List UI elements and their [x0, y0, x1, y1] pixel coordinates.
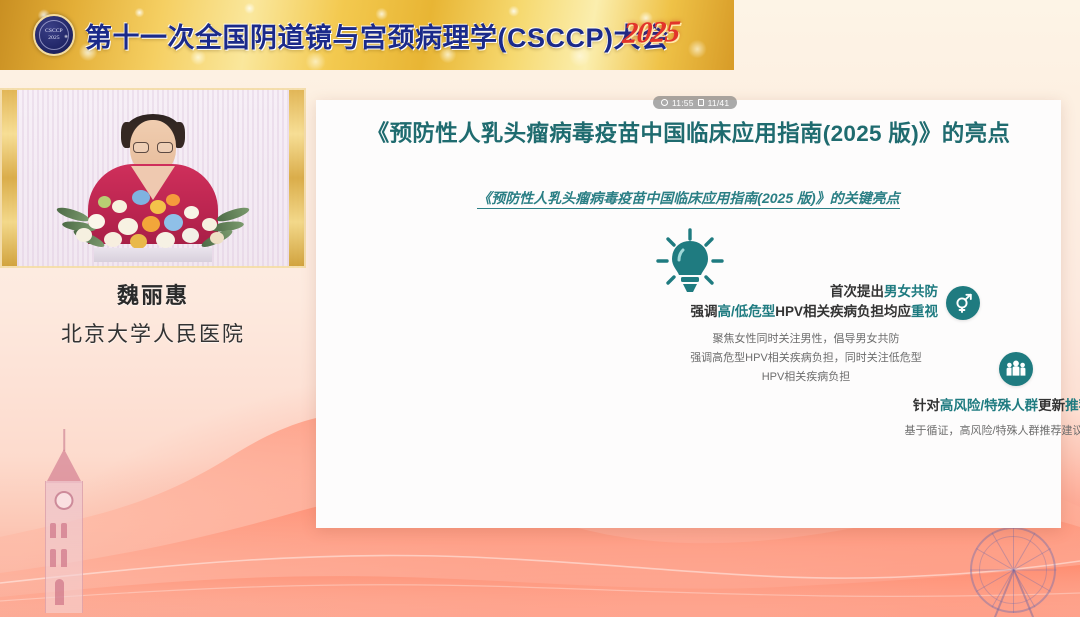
- logo-text-primary: CSCCP: [45, 28, 63, 35]
- clock-icon: [661, 99, 668, 106]
- clock-tower-icon: [36, 437, 92, 613]
- people-group-icon: [999, 352, 1033, 386]
- gender-body-line1: 聚焦女性同时关注男性，倡导男女共防: [674, 330, 938, 349]
- node-population-heading: 针对高风险/特殊人群更新推荐建议: [806, 396, 1080, 416]
- gender-h2-plain3: 相关疾病负担均应: [803, 304, 911, 319]
- logo-text-secondary: 2025: [48, 35, 60, 42]
- gender-symbols-icon-wrap: [946, 286, 980, 320]
- conference-year: 2025: [621, 15, 681, 51]
- video-border-left: [2, 90, 17, 266]
- speaker-glasses: [133, 142, 173, 153]
- gender-h2-teal1: 高/低危型: [717, 304, 775, 319]
- livestream-screen: CSCCP 2025 第十一次全国阴道镜与宫颈病理学(CSCCP)大会 2025: [0, 0, 1080, 617]
- node-gender-heading-2: 强调高/低危型HPV相关疾病负担均应重视: [638, 302, 938, 322]
- pop-h-teal1: 高风险/特殊人群: [940, 398, 1038, 413]
- presentation-slide[interactable]: 《预防性人乳头瘤病毒疫苗中国临床应用指南(2025 版)》的亮点 《预防性人乳头…: [316, 100, 1061, 528]
- speaker-video-thumbnail[interactable]: [0, 88, 306, 268]
- slide-title: 《预防性人乳头瘤病毒疫苗中国临床应用指南(2025 版)》的亮点: [316, 116, 1061, 148]
- conference-banner: CSCCP 2025 第十一次全国阴道镜与宫颈病理学(CSCCP)大会 2025: [0, 0, 734, 70]
- speaker-info: 魏丽惠 北京大学人民医院: [0, 278, 306, 348]
- gender-h2-plain2: HPV: [775, 304, 803, 319]
- video-border-right: [289, 90, 304, 266]
- gender-h2-teal2: 重视: [911, 304, 938, 319]
- pop-body-line1: 基于循证，高风险/特殊人群推荐建议全面更新: [806, 422, 1080, 441]
- flower-bouquet: [58, 184, 248, 262]
- node-population-body: 基于循证，高风险/特殊人群推荐建议全面更新: [806, 422, 1080, 441]
- conference-title: 第十一次全国阴道镜与宫颈病理学(CSCCP)大会: [85, 14, 669, 56]
- slide-subtitle: 《预防性人乳头瘤病毒疫苗中国临床应用指南(2025 版)》的关键亮点: [316, 188, 1061, 208]
- slide-page-icon: [698, 99, 704, 106]
- speaker-organization: 北京大学人民医院: [0, 318, 306, 348]
- node-gender-heading-1: 首次提出男女共防: [638, 282, 938, 302]
- gender-h1-teal: 男女共防: [884, 284, 938, 299]
- gender-h1-plain: 首次提出: [830, 284, 884, 299]
- speaker-name: 魏丽惠: [0, 278, 306, 310]
- pop-h-plain1: 针对: [913, 398, 940, 413]
- csccp-logo-icon: CSCCP 2025: [33, 14, 75, 56]
- node-population: 针对高风险/特殊人群更新推荐建议 基于循证，高风险/特殊人群推荐建议全面更新: [806, 352, 1080, 442]
- elapsed-time: 11:55: [672, 98, 694, 108]
- pop-h-plain2: 更新: [1038, 398, 1065, 413]
- slide-subtitle-text: 《预防性人乳头瘤病毒疫苗中国临床应用指南(2025 版)》的关键亮点: [477, 190, 899, 209]
- pop-h-teal2: 推荐建议: [1065, 398, 1080, 413]
- page-counter: 11/41: [708, 98, 730, 108]
- gender-h2-plain1: 强调: [690, 304, 717, 319]
- playback-status-badge: 11:55 11/41: [653, 96, 737, 109]
- gender-symbols-icon: [946, 286, 980, 320]
- ferris-wheel-icon: [970, 527, 1056, 613]
